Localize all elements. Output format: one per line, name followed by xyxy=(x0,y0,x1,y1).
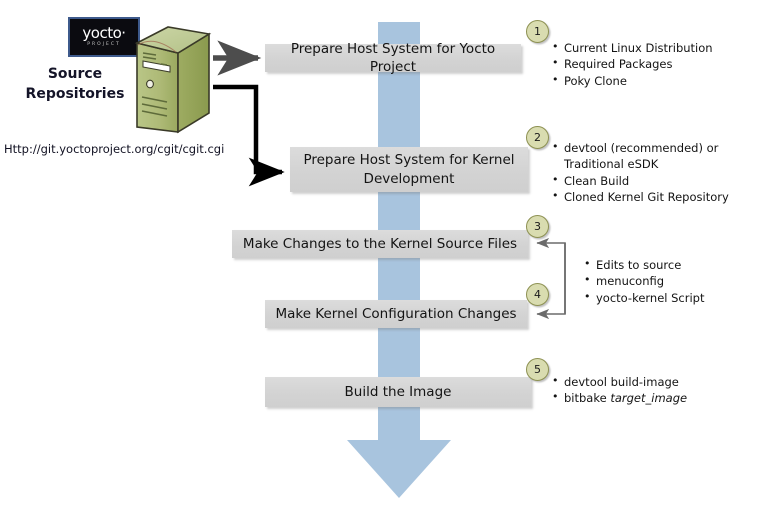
note-item: devtool build-image xyxy=(552,374,687,390)
note-text: bitbake xyxy=(564,391,610,405)
arrow-source-to-step2 xyxy=(213,87,282,172)
logo-subtitle: PROJECT xyxy=(87,43,120,48)
step-number-badge-2: 2 xyxy=(526,126,549,149)
source-label-line2: Repositories xyxy=(10,84,140,104)
step-box-5[interactable]: Build the Image xyxy=(265,377,531,407)
note-text-italic: target_image xyxy=(610,391,687,405)
notes-step-2: devtool (recommended) or Traditional eSD… xyxy=(552,140,729,205)
source-repositories-label: Source Repositories xyxy=(10,64,140,105)
note-item: Poky Clone xyxy=(552,73,713,89)
note-item: Current Linux Distribution xyxy=(552,40,713,56)
pipeline-arrow-head xyxy=(347,440,451,498)
note-text: devtool build-image xyxy=(564,375,679,389)
server-tower-icon xyxy=(134,25,212,135)
source-repositories-url: Http://git.yoctoproject.org/cgit/cgit.cg… xyxy=(4,142,234,156)
logo-wordmark: yocto xyxy=(82,24,121,42)
step-box-1[interactable]: Prepare Host System for Yocto Project xyxy=(265,44,521,72)
step-number-badge-5: 5 xyxy=(526,358,549,381)
note-item: devtool (recommended) or Traditional eSD… xyxy=(552,140,724,173)
notes-steps-3-and-4: Edits to source menuconfig yocto-kernel … xyxy=(584,257,705,306)
step-box-2[interactable]: Prepare Host System for Kernel Developme… xyxy=(290,147,528,192)
notes-step-1: Current Linux Distribution Required Pack… xyxy=(552,40,713,89)
step-number-badge-1: 1 xyxy=(526,20,549,43)
step-box-4[interactable]: Make Kernel Configuration Changes xyxy=(265,300,527,328)
note-item: yocto-kernel Script xyxy=(584,290,705,306)
note-item: bitbake target_image xyxy=(552,390,687,406)
source-label-line1: Source xyxy=(10,64,140,84)
step-number-badge-4: 4 xyxy=(526,283,549,306)
step-box-3[interactable]: Make Changes to the Kernel Source Files xyxy=(232,230,528,258)
note-item: menuconfig xyxy=(584,273,705,289)
logo-dot: · xyxy=(121,24,125,42)
step-number-badge-3: 3 xyxy=(526,215,549,238)
note-item: Cloned Kernel Git Repository xyxy=(552,189,729,205)
note-item: Edits to source xyxy=(584,257,705,273)
yocto-project-logo: yocto· PROJECT xyxy=(68,17,140,57)
diagram-canvas: yocto· PROJECT Source Repositories Http:… xyxy=(0,0,769,517)
notes-step-5: devtool build-image bitbake target_image xyxy=(552,374,687,407)
note-item: Required Packages xyxy=(552,56,713,72)
note-item: Clean Build xyxy=(552,173,729,189)
